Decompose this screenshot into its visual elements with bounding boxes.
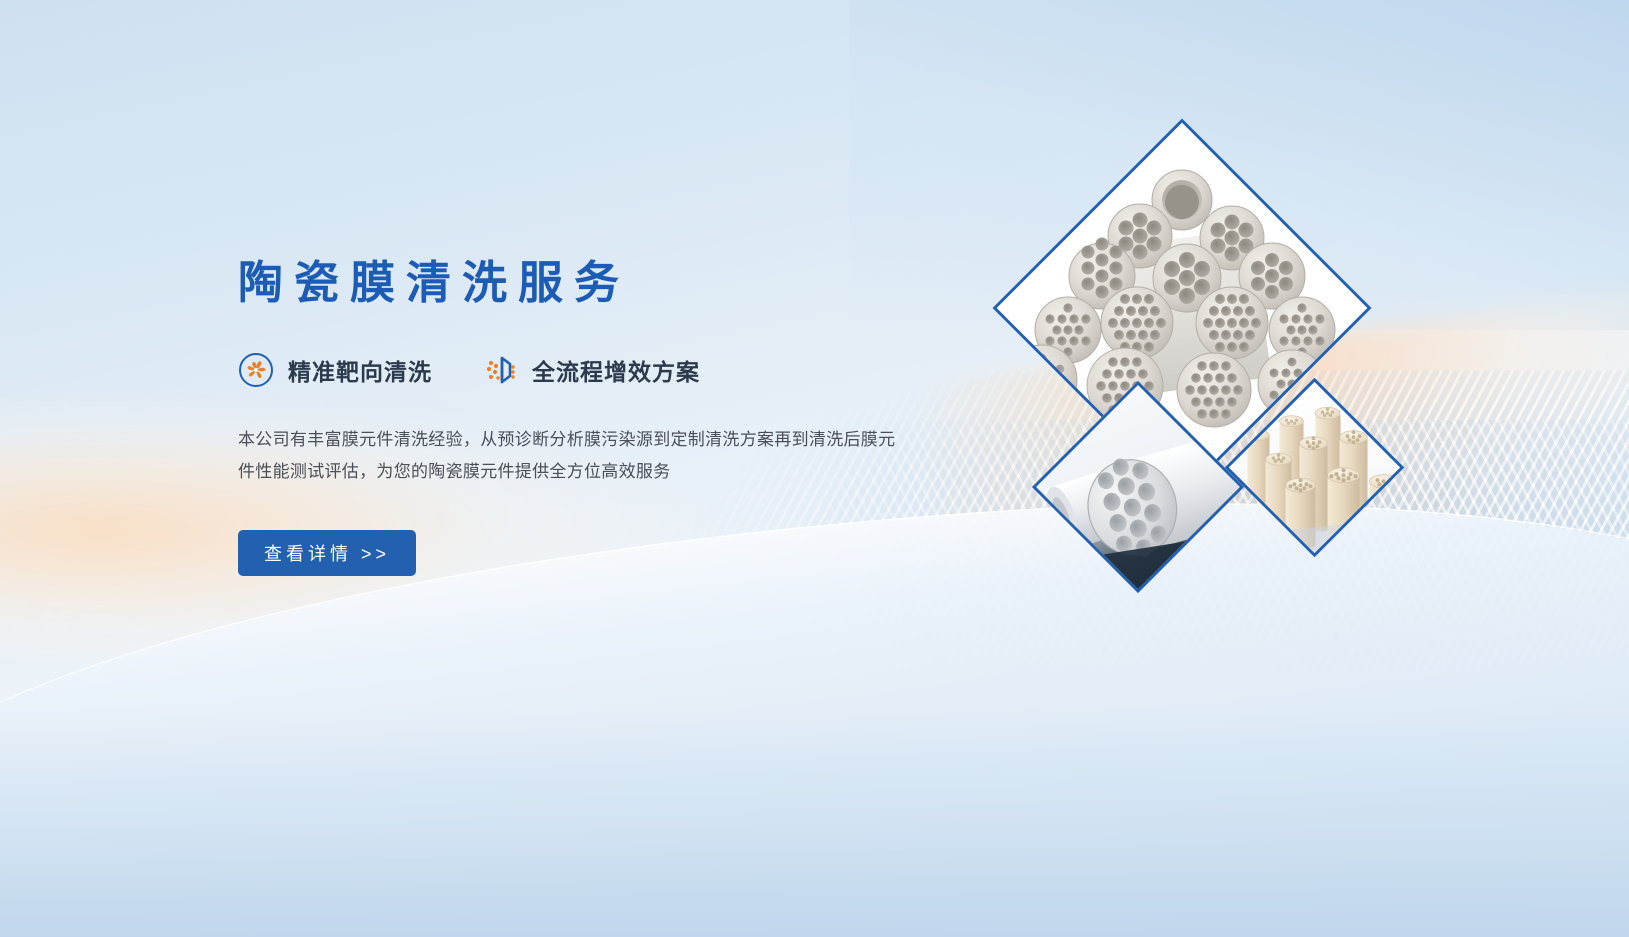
feature-badge-targeted-cleaning: 精准靶向清洗 bbox=[238, 352, 432, 388]
product-image-cluster bbox=[1010, 150, 1470, 650]
feature-badge-process-solution: 全流程增效方案 bbox=[482, 352, 700, 388]
process-flow-icon bbox=[482, 352, 518, 388]
feature-badge-label: 全流程增效方案 bbox=[532, 353, 700, 387]
hero-description: 本公司有丰富膜元件清洗经验，从预诊断分析膜污染源到定制清洗方案再到清洗后膜元件性… bbox=[238, 424, 898, 488]
hero-content: 陶瓷膜清洗服务 精准靶向清洗 bbox=[238, 258, 998, 576]
page-title: 陶瓷膜清洗服务 bbox=[238, 258, 998, 308]
background-bottom-fade bbox=[0, 707, 1629, 937]
feature-badge-label: 精准靶向清洗 bbox=[288, 353, 432, 387]
view-details-button[interactable]: 查看详情 >> bbox=[238, 530, 416, 576]
pinwheel-icon bbox=[238, 352, 274, 388]
hero-banner: 陶瓷膜清洗服务 精准靶向清洗 bbox=[0, 0, 1629, 937]
feature-badge-list: 精准靶向清洗 bbox=[238, 352, 998, 388]
